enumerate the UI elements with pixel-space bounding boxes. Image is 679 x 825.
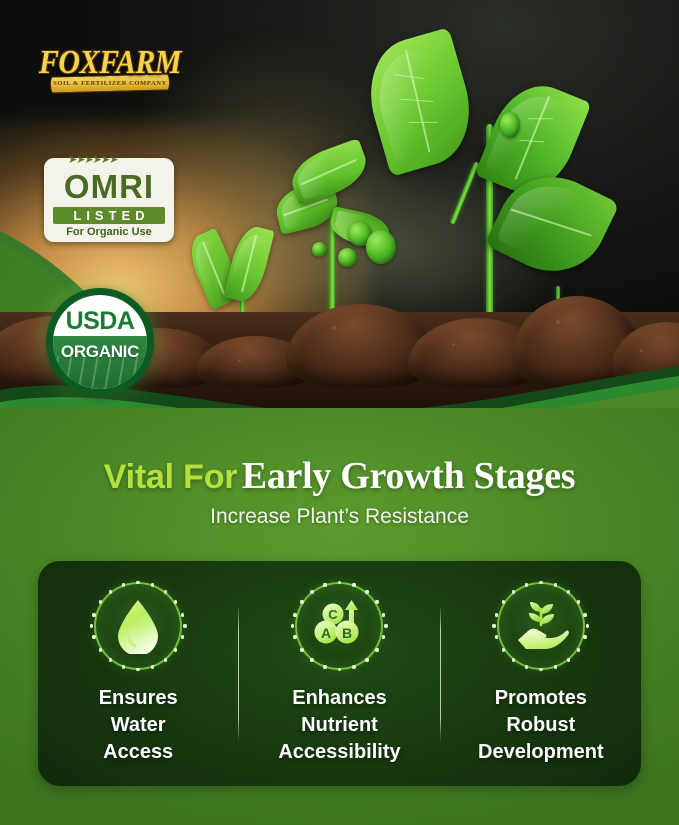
benefit-label: Enhances Nutrient Accessibility	[278, 685, 400, 767]
benefit-card-robust-development: Promotes Robust Development	[441, 561, 641, 786]
benefit-cards-container: Ensures Water Access	[38, 561, 641, 786]
benefit-label-line1: Promotes	[495, 687, 587, 709]
headline-main: Early Growth Stages	[242, 455, 575, 497]
foxfarm-logo: FOXFARM SOIL & FERTILIZER COMPANY	[36, 44, 184, 104]
svg-text:B: B	[342, 625, 352, 641]
omri-listed-badge: ➤➤➤➤➤➤ OMRI LISTED For Organic Use	[44, 158, 174, 242]
benefit-label-line1: Enhances	[292, 687, 386, 709]
usda-seal-inner: USDA ORGANIC	[51, 293, 149, 391]
water-drop-icon	[94, 582, 182, 670]
omri-status: LISTED	[53, 207, 165, 224]
benefit-label-line2: Nutrient	[301, 714, 378, 736]
benefit-card-nutrient-accessibility: C A B Enhances Nutrient Accessibility	[239, 561, 439, 786]
benefit-label: Ensures Water Access	[99, 685, 178, 767]
product-infographic: FOXFARM SOIL & FERTILIZER COMPANY ➤➤➤➤➤➤…	[0, 0, 679, 825]
benefits-section: Vital For Early Growth Stages Increase P…	[0, 408, 679, 825]
benefit-label-line3: Development	[478, 741, 604, 763]
benefit-label-line2: Robust	[506, 714, 575, 736]
headline-accent: Vital For	[104, 458, 238, 496]
benefit-label-line3: Access	[103, 741, 173, 763]
usda-label: USDA	[53, 295, 147, 340]
seed-bud	[500, 112, 520, 138]
svg-text:C: C	[329, 607, 339, 622]
benefit-card-water-access: Ensures Water Access	[38, 561, 238, 786]
usda-organic-seal: USDA ORGANIC	[46, 288, 154, 396]
benefit-label-line2: Water	[111, 714, 166, 736]
svg-text:A: A	[321, 625, 331, 641]
hero-photo: FOXFARM SOIL & FERTILIZER COMPANY ➤➤➤➤➤➤…	[0, 0, 679, 432]
hand-sprout-icon	[497, 582, 585, 670]
omri-name: OMRI	[44, 168, 174, 206]
benefit-label-line1: Ensures	[99, 687, 178, 709]
logo-wordmark: FOXFARM	[36, 44, 184, 82]
page-subtitle: Increase Plant’s Resistance	[0, 505, 679, 529]
page-title: Vital For Early Growth Stages	[0, 454, 679, 498]
nutrient-abc-icon: C A B	[295, 582, 383, 670]
omri-note: For Organic Use	[44, 226, 174, 238]
wheat-sprig-icon: ➤➤➤➤➤➤	[68, 153, 150, 166]
usda-field-graphic: ORGANIC	[53, 336, 147, 389]
benefit-label: Promotes Robust Development	[478, 685, 604, 767]
logo-tagline: SOIL & FERTILIZER COMPANY	[36, 80, 184, 87]
usda-organic-label: ORGANIC	[53, 342, 147, 362]
seed-bud	[312, 242, 327, 257]
benefit-label-line3: Accessibility	[278, 741, 400, 763]
